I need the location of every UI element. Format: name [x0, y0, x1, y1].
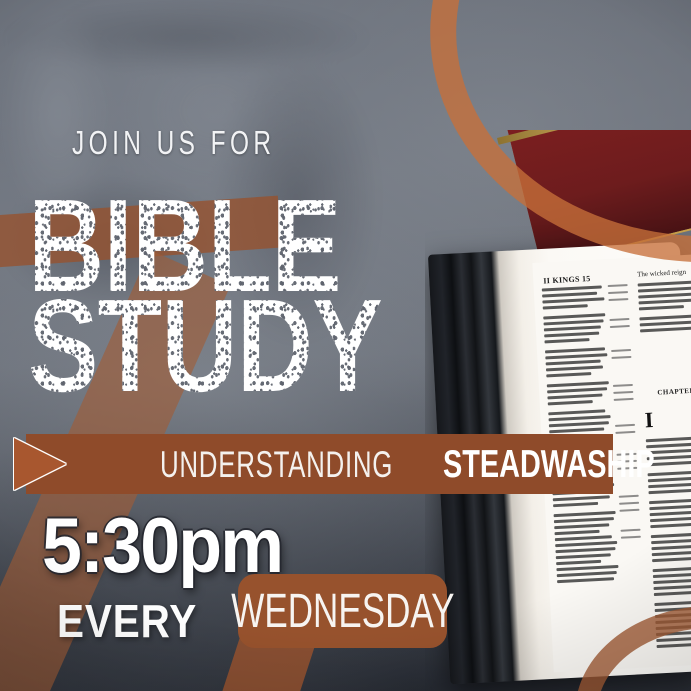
- headline-line-2: STUDY: [28, 288, 382, 404]
- day-label: WEDNESDAY: [231, 584, 454, 639]
- bible-text-column-right: [638, 280, 691, 339]
- topic-thin-text: UNDERSTANDING: [160, 444, 393, 486]
- day-badge-text: WEDNESDAY: [238, 574, 447, 648]
- topic-bold-text: STEADWASHIP: [443, 443, 655, 487]
- bible-page-heading-right: The wicked reign: [637, 268, 686, 279]
- bible-study-flyer: II KINGS 15 The wicked reign: [0, 0, 691, 691]
- play-triangle-icon: [14, 438, 66, 490]
- topic-banner-label: UNDERSTANDING STEADWASHIP: [160, 441, 691, 489]
- bible-chapter-label: CHAPTER: [657, 387, 691, 397]
- eyebrow-text: JOIN US FOR: [72, 124, 276, 162]
- frequency-label: EVERY: [57, 594, 197, 648]
- page-title: BIBLE STUDY: [28, 188, 470, 404]
- bible-drop-cap: I: [644, 409, 654, 431]
- bible-page-heading-left: II KINGS 15: [543, 274, 591, 285]
